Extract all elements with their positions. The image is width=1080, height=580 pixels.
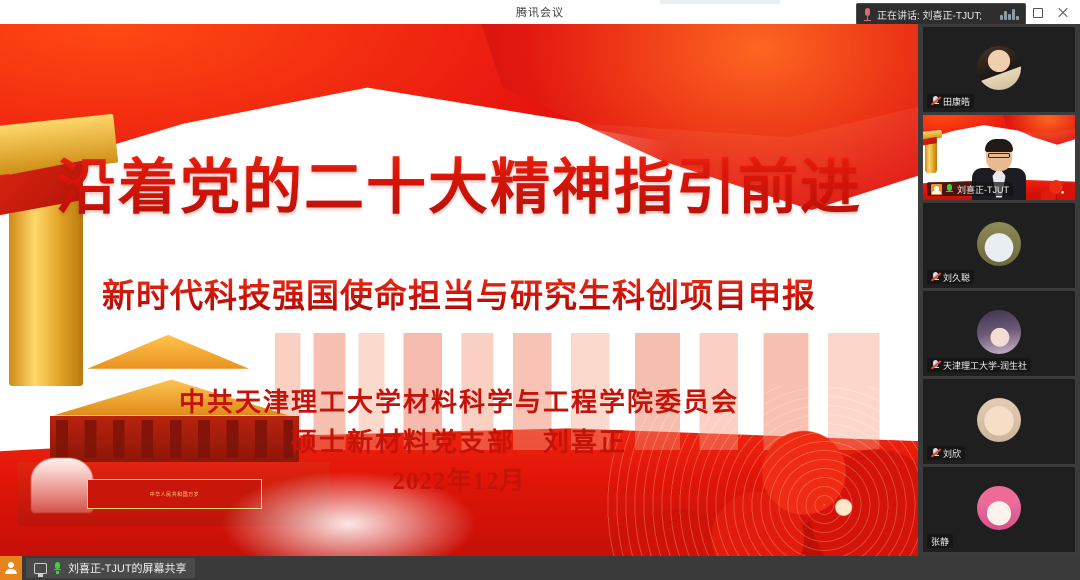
mic-muted-icon xyxy=(931,360,940,370)
participant-name: 张静 xyxy=(931,535,949,548)
participant-name-chip: 田康皓 xyxy=(927,94,974,108)
participant-tile[interactable]: 田康皓 xyxy=(923,27,1075,112)
participant-sidebar[interactable]: 田康皓 刘喜正-TJUT 刘久聪 xyxy=(918,24,1080,556)
mic-muted-icon xyxy=(931,272,940,282)
maximize-icon[interactable] xyxy=(1032,7,1043,18)
mic-on-icon xyxy=(945,184,954,195)
participant-name-chip: 刘久聪 xyxy=(927,270,974,284)
avatar xyxy=(977,486,1021,530)
participant-tile[interactable]: 刘久聪 xyxy=(923,203,1075,288)
window-title: 腾讯会议 xyxy=(516,4,564,20)
participant-name: 天津理工大学-润生社 xyxy=(943,359,1027,372)
shared-screen-content: 中华人民共和国万岁 沿着党的二十大精神指引前进 新时代科技强国使命担当与研究生科… xyxy=(0,24,918,556)
participant-name: 田康皓 xyxy=(943,95,970,108)
start-user-icon[interactable] xyxy=(0,556,22,580)
tencent-meeting-window: 腾讯会议 正在讲话: 刘喜正-TJUT; 中华人民共和国万岁 xyxy=(0,0,1080,580)
avatar xyxy=(977,398,1021,442)
slide-department: 硕士新材料党支部 刘喜正 xyxy=(0,422,918,459)
microphone-icon xyxy=(863,8,872,21)
slide-organization: 中共天津理工大学材料科学与工程学院委员会 xyxy=(0,382,918,419)
slide-subtitle: 新时代科技强国使命担当与研究生科创项目申报 xyxy=(0,269,918,317)
slide-text-block: 沿着党的二十大精神指引前进 新时代科技强国使命担当与研究生科创项目申报 中共天津… xyxy=(0,24,918,556)
taskbar-item-label: 刘喜正-TJUT的屏幕共享 xyxy=(68,560,187,576)
avatar xyxy=(977,46,1021,90)
screen-share-icon xyxy=(34,563,47,574)
audio-wave-icon xyxy=(1000,8,1019,20)
participant-name: 刘欣 xyxy=(943,447,961,460)
speaking-indicator-text: 正在讲话: 刘喜正-TJUT; xyxy=(877,7,982,22)
participant-tile[interactable]: 刘欣 xyxy=(923,379,1075,464)
microphone-on-icon xyxy=(53,562,62,574)
speaking-indicator: 正在讲话: 刘喜正-TJUT; xyxy=(856,3,1026,25)
avatar xyxy=(977,310,1021,354)
participant-tile[interactable]: 天津理工大学-润生社 xyxy=(923,291,1075,376)
participant-name-chip: 刘欣 xyxy=(927,446,965,460)
participant-tile[interactable]: 张静 xyxy=(923,467,1075,552)
participant-name-chip: 天津理工大学-润生社 xyxy=(927,358,1031,372)
taskbar-item-screen-share[interactable]: 刘喜正-TJUT的屏幕共享 xyxy=(26,558,195,578)
mic-muted-icon xyxy=(931,448,940,458)
close-icon[interactable] xyxy=(1057,7,1068,18)
slide-title: 沿着党的二十大精神指引前进 xyxy=(0,139,918,226)
host-badge-icon xyxy=(931,184,942,195)
taskbar: 刘喜正-TJUT的屏幕共享 xyxy=(0,556,1080,580)
participant-name: 刘喜正-TJUT xyxy=(957,183,1009,196)
participant-name-chip: 张静 xyxy=(927,534,953,548)
slide-date: 2022年12月 xyxy=(0,461,918,497)
participant-name-chip: 刘喜正-TJUT xyxy=(927,182,1013,196)
participant-name: 刘久聪 xyxy=(943,271,970,284)
mic-muted-icon xyxy=(931,96,940,106)
participant-tile-active-speaker[interactable]: 刘喜正-TJUT xyxy=(923,115,1075,200)
tab-stub xyxy=(660,0,780,4)
avatar xyxy=(977,222,1021,266)
